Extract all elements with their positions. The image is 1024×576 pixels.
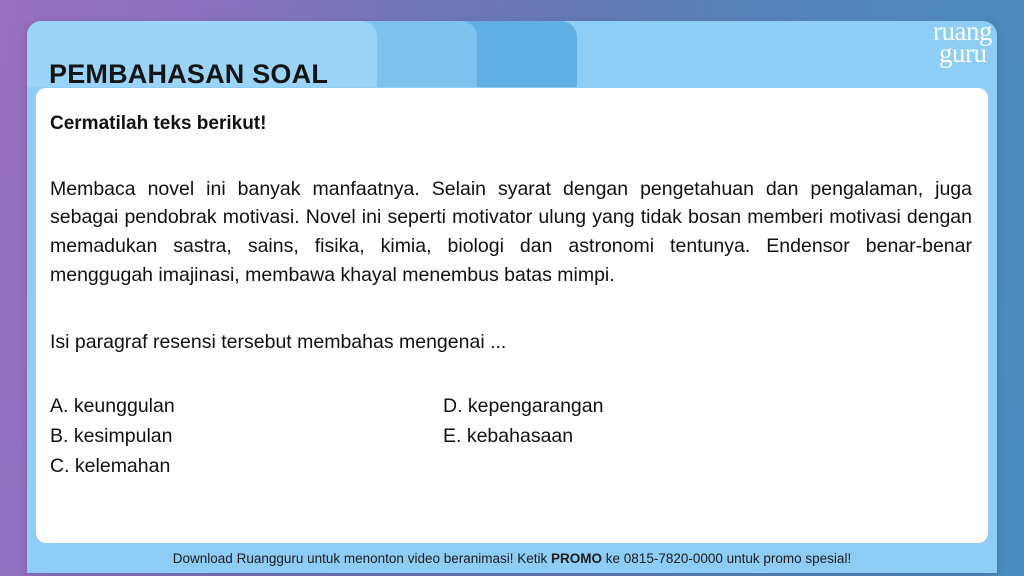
footer-banner: Download Ruangguru untuk menonton video … (27, 543, 997, 573)
question-prompt: Isi paragraf resensi tersebut membahas m… (50, 329, 974, 356)
answer-option-a[interactable]: A. keunggulan (50, 391, 175, 421)
footer-promo-keyword: PROMO (551, 551, 602, 566)
question-heading: Cermatilah teks berikut! (50, 112, 974, 137)
answer-option-b[interactable]: B. kesimpulan (50, 421, 175, 451)
footer-text-before: Download Ruangguru untuk menonton video … (173, 551, 551, 566)
page-title: PEMBAHASAN SOAL (49, 59, 328, 90)
content-sheet: Cermatilah teks berikut! Membaca novel i… (36, 88, 988, 543)
slide-card: PEMBAHASAN SOAL Cermatilah teks berikut!… (27, 21, 997, 573)
answer-options: A. keunggulan B. kesimpulan C. kelemahan… (50, 391, 974, 501)
footer-text-after: ke 0815-7820-0000 untuk promo spesial! (602, 551, 851, 566)
answer-options-left-column: A. keunggulan B. kesimpulan C. kelemahan (50, 391, 175, 482)
ruangguru-logo: ruang guru (933, 20, 992, 64)
answer-options-right-column: D. kepengarangan E. kebahasaan (443, 391, 603, 452)
footer-promo-text: Download Ruangguru untuk menonton video … (173, 551, 851, 566)
answer-option-c[interactable]: C. kelemahan (50, 451, 175, 481)
logo-line-guru: guru (939, 42, 992, 64)
passage-text: Membaca novel ini banyak manfaatnya. Sel… (50, 175, 974, 290)
answer-option-d[interactable]: D. kepengarangan (443, 391, 603, 421)
answer-option-e[interactable]: E. kebahasaan (443, 421, 603, 451)
